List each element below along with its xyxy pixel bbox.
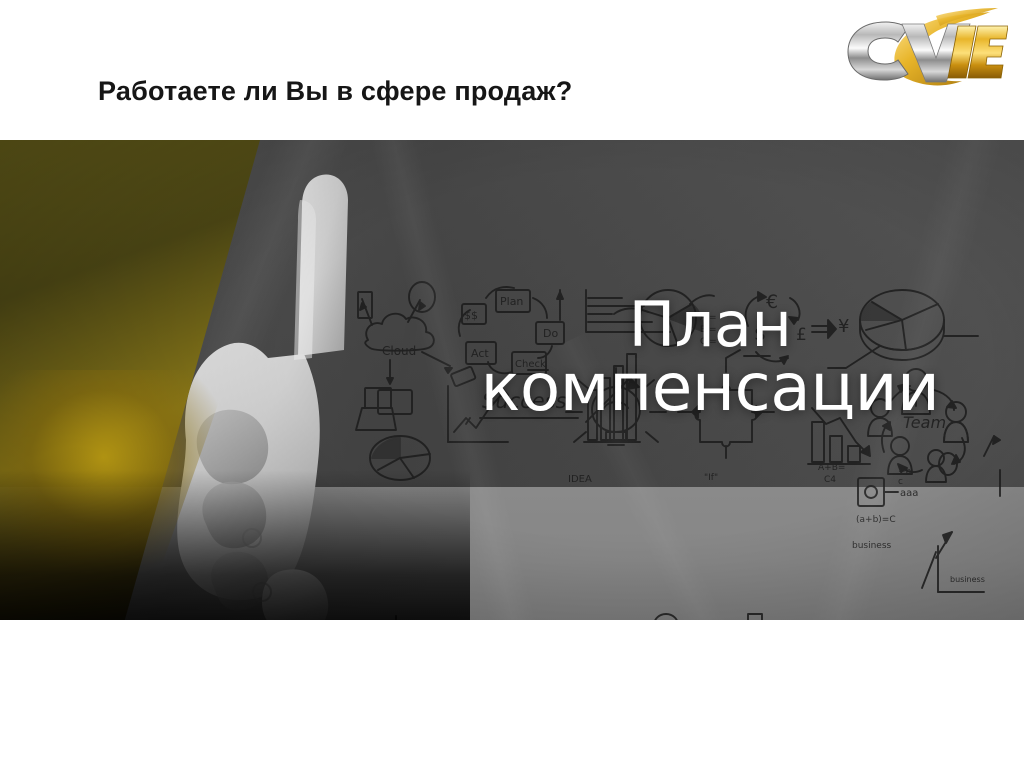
- hand-photo: [0, 140, 470, 620]
- hero-overlay-line-2: компенсации: [440, 356, 980, 421]
- doodle-formula: aaa +b c (a+b)=C A+B= C4: [818, 463, 918, 525]
- svg-text:C4: C4: [824, 475, 836, 485]
- slide-header: Работаете ли Вы в сфере продаж?: [0, 0, 1024, 140]
- page-title: Работаете ли Вы в сфере продаж?: [98, 76, 572, 107]
- svg-text:+b: +b: [898, 467, 912, 477]
- dark-bottom-gradient: [0, 470, 470, 620]
- slide-root: Работаете ли Вы в сфере продаж?: [0, 0, 1024, 767]
- hero-overlay-line-1: План: [440, 295, 980, 356]
- doodle-axis-arrow-right: business: [922, 532, 985, 592]
- svg-text:business: business: [950, 575, 985, 584]
- svg-text:IDEA: IDEA: [568, 474, 592, 485]
- svg-text:"If": "If": [704, 473, 718, 483]
- svg-text:c: c: [898, 477, 903, 487]
- cvie-logo: [840, 6, 1008, 90]
- slide-footer: [0, 620, 1024, 767]
- svg-text:aaa: aaa: [900, 488, 918, 499]
- hero-banner-image: Cloud Plan: [0, 140, 1024, 620]
- hero-overlay-text: План компенсации: [440, 295, 980, 420]
- svg-text:business: business: [852, 541, 892, 551]
- svg-text:A+B=: A+B=: [818, 463, 845, 473]
- doodle-formula-label: (a+b)=C: [856, 515, 896, 525]
